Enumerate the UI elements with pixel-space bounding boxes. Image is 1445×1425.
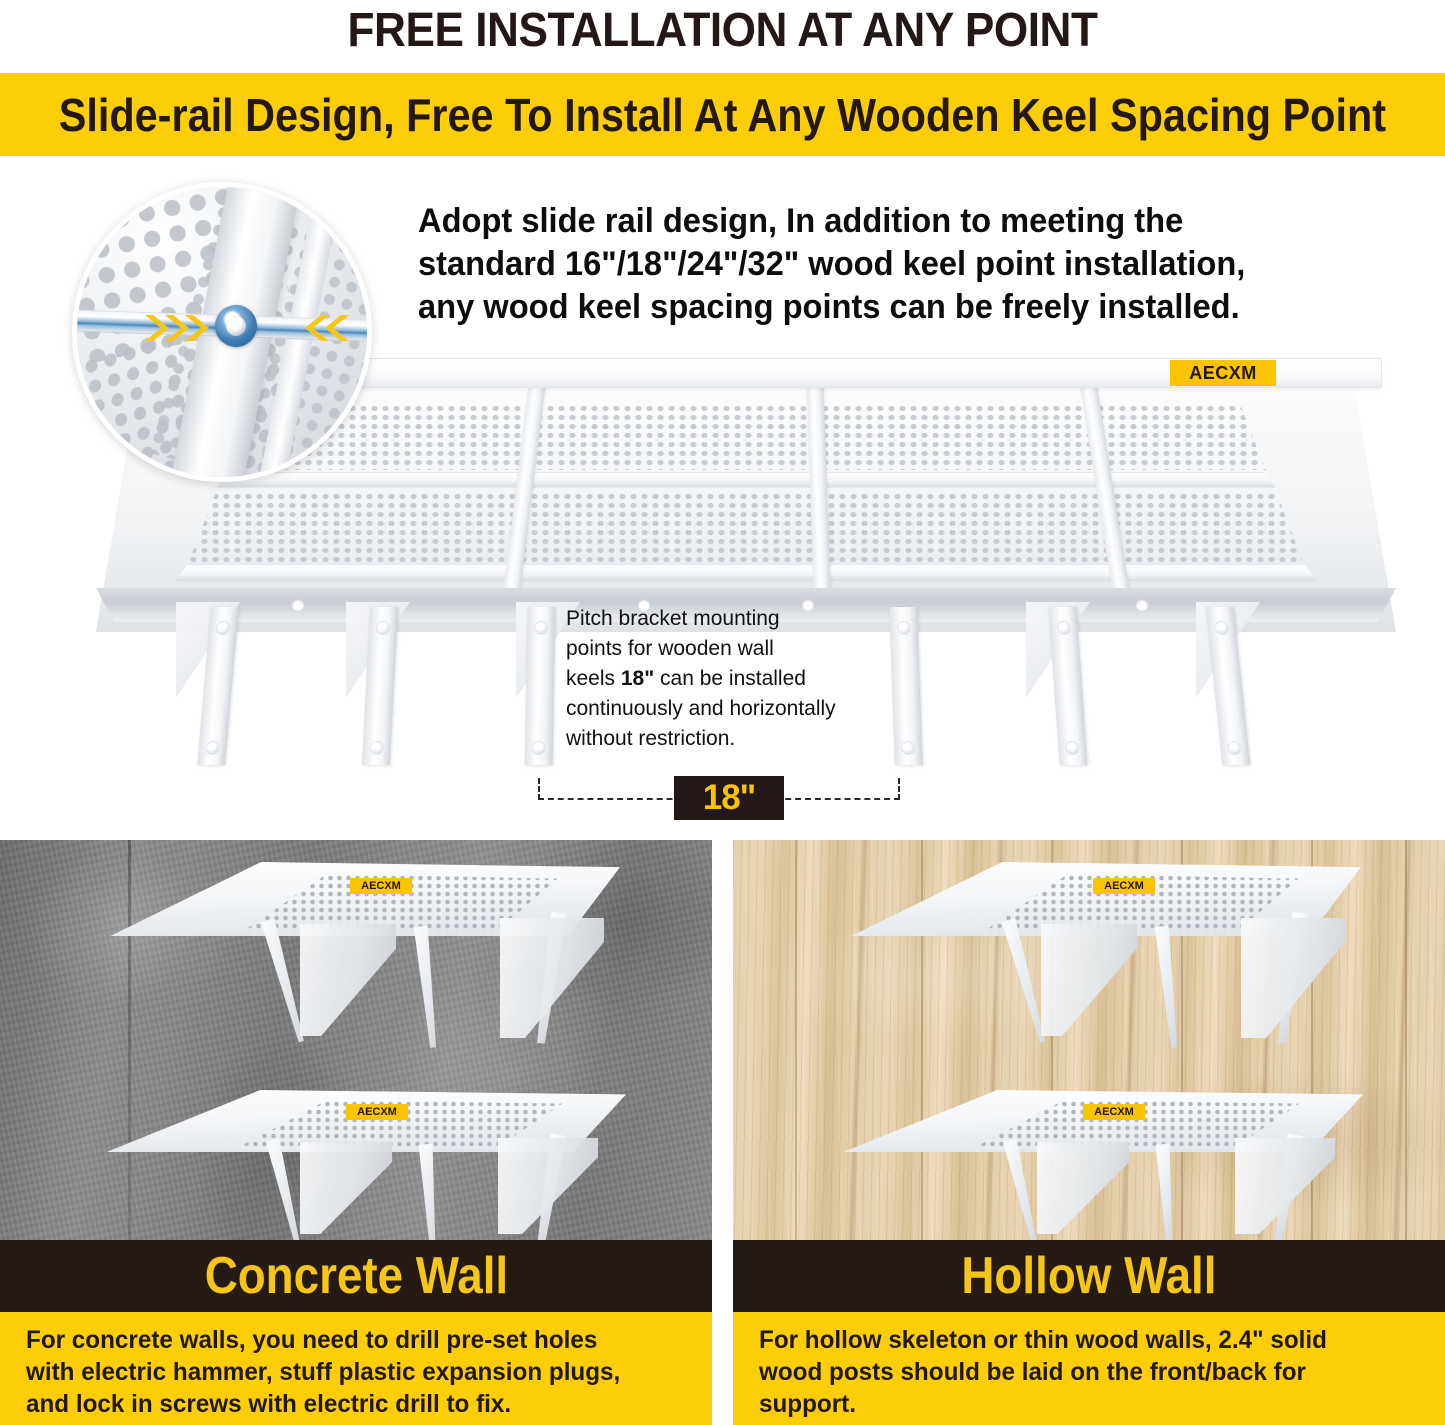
dimension-tick-left — [538, 778, 540, 800]
pitch-note-line-4: continuously and horizontally — [566, 694, 884, 724]
concrete-wall-photo: AECXM AECXM — [0, 840, 712, 1240]
magnifier-content — [77, 187, 367, 477]
concrete-wall-caption: For concrete walls, you need to drill pr… — [0, 1312, 712, 1425]
panel-concrete-wall: AECXM AECXM — [0, 840, 712, 1425]
infographic-page: FREE INSTALLATION AT ANY POINT Slide-rai… — [0, 0, 1445, 1425]
hollow-wall-title: Hollow Wall — [961, 1249, 1216, 1303]
dimension-tick-right — [898, 778, 900, 800]
pitch-note-line-1: Pitch bracket mounting — [566, 604, 884, 634]
shelf-support-arm — [1156, 1144, 1177, 1240]
shelf-support-arm — [266, 1138, 305, 1240]
pitch-bracket-note: Pitch bracket mounting points for wooden… — [566, 604, 884, 754]
concrete-caption-line-2: with electric hammer, stuff plastic expa… — [26, 1356, 666, 1388]
subtitle-banner: Slide-rail Design, Free To Install At An… — [0, 73, 1445, 156]
wall-bracket — [889, 607, 923, 765]
shelf-support-arm — [419, 1144, 440, 1240]
concrete-wall-title: Concrete Wall — [204, 1249, 507, 1303]
hollow-caption-line-3: support. — [759, 1388, 1399, 1420]
pitch-note-line-3-pre: keels — [566, 667, 621, 690]
shelf-support-arm — [414, 926, 441, 1049]
shelf-lower: AECXM — [833, 1090, 1363, 1240]
concrete-caption-text: For concrete walls, you need to drill pr… — [26, 1324, 666, 1420]
concrete-caption-line-3: and lock in screws with electric drill t… — [26, 1388, 666, 1420]
shelf-gusset — [300, 1142, 392, 1234]
shelf-upper: AECXM — [100, 862, 620, 1062]
brand-badge-photo: AECXM — [350, 878, 412, 894]
shelf-support-arm — [1155, 926, 1182, 1049]
perforated-panel-2 — [188, 492, 1304, 564]
hollow-caption-line-2: wood posts should be laid on the front/b… — [759, 1356, 1399, 1388]
shelf-gusset — [1037, 1142, 1129, 1234]
description-line-1: Adopt slide rail design, In addition to … — [418, 200, 1388, 243]
shelf-lower: AECXM — [96, 1090, 626, 1240]
plank-gap — [795, 840, 797, 1240]
shelf-gusset — [1041, 924, 1137, 1036]
hero-title: FREE INSTALLATION AT ANY POINT — [58, 2, 1387, 60]
subtitle-banner-text: Slide-rail Design, Free To Install At An… — [59, 90, 1386, 140]
cross-beam-2 — [174, 564, 1318, 582]
brand-badge-main: AECXM — [1170, 360, 1276, 386]
shelf-gusset — [1241, 918, 1345, 1038]
perforated-panel-1 — [226, 404, 1266, 470]
concrete-wall-title-strip: Concrete Wall — [0, 1240, 712, 1312]
shelf-support-arm — [1003, 1138, 1042, 1240]
wall-bracket — [525, 607, 556, 765]
plank-gap — [1405, 840, 1407, 1240]
mount-hole — [1136, 599, 1148, 611]
pitch-note-line-2: points for wooden wall — [566, 634, 884, 664]
pitch-note-line-3-post: can be installed — [654, 667, 806, 690]
shelf-gusset — [500, 918, 604, 1038]
cross-beam-1 — [216, 472, 1276, 488]
pitch-note-line-5: without restriction. — [566, 724, 884, 754]
dimension-value-tag: 18" — [674, 776, 784, 820]
hollow-wall-photo: AECXM AECXM — [733, 840, 1445, 1240]
description-paragraph: Adopt slide rail design, In addition to … — [418, 200, 1388, 329]
panel-hollow-wall: AECXM AECXM — [733, 840, 1445, 1425]
hollow-caption-line-1: For hollow skeleton or thin wood walls, … — [759, 1324, 1399, 1356]
brand-badge-photo: AECXM — [1093, 878, 1155, 894]
description-line-3: any wood keel spacing points can be free… — [418, 286, 1388, 329]
shelf-gusset — [300, 924, 396, 1036]
shelf-upper: AECXM — [841, 862, 1361, 1062]
concrete-caption-line-1: For concrete walls, you need to drill pr… — [26, 1324, 666, 1356]
hollow-wall-title-strip: Hollow Wall — [733, 1240, 1445, 1312]
brand-badge-photo: AECXM — [1083, 1104, 1145, 1120]
hollow-wall-caption: For hollow skeleton or thin wood walls, … — [733, 1312, 1445, 1425]
mount-hole — [292, 599, 304, 611]
description-line-2: standard 16"/18"/24"/32" wood keel point… — [418, 243, 1388, 286]
brand-badge-photo: AECXM — [346, 1104, 408, 1120]
pitch-note-line-3: keels 18" can be installed — [566, 664, 884, 694]
magnifier-circle — [72, 182, 372, 482]
installation-panels: AECXM AECXM — [0, 840, 1445, 1425]
pitch-note-measure: 18" — [621, 667, 654, 690]
dimension-indicator: 18" — [530, 776, 908, 818]
hollow-caption-text: For hollow skeleton or thin wood walls, … — [759, 1324, 1399, 1420]
